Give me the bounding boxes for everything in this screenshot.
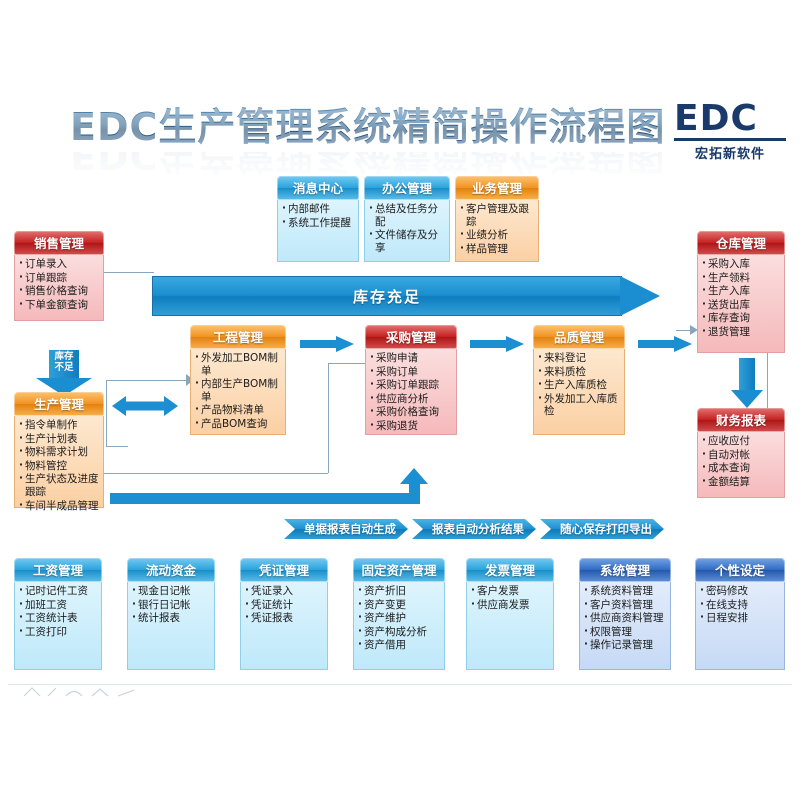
list-item[interactable]: 生产入库 [702, 285, 782, 298]
logo-subtitle: 宏拓新软件 [674, 143, 786, 162]
list-item[interactable]: 文件储存及分享 [369, 229, 447, 254]
list-item[interactable]: 内部邮件 [282, 203, 356, 216]
list-item[interactable]: 样品管理 [460, 243, 536, 256]
list-item[interactable]: 密码修改 [700, 585, 782, 598]
list-item[interactable]: 供应商发票 [471, 599, 551, 612]
module-title: 品质管理 [533, 325, 625, 349]
module-body: 凭证录入 凭证统计 凭证报表 [240, 582, 328, 670]
module-body: 外发加工BOM制单 内部生产BOM制单 产品物料清单 产品BOM查询 [190, 349, 286, 435]
arrow-tip [731, 390, 763, 408]
connector-material-to-purchase-v [328, 363, 329, 473]
list-item[interactable]: 车间半成品管理 [19, 500, 101, 513]
list-item[interactable]: 外发加工入库质检 [538, 393, 622, 418]
list-item[interactable]: 资产折旧 [358, 585, 442, 598]
list-item[interactable]: 工资打印 [19, 626, 99, 639]
stock-insufficient-arrow: 库存 不足 [36, 350, 92, 396]
module-item-list: 记时记件工资 加班工资 工资统计表 工资打印 [19, 585, 99, 638]
list-item[interactable]: 权限管理 [584, 626, 668, 639]
list-item[interactable]: 销售价格查询 [19, 285, 101, 298]
list-item[interactable]: 来料登记 [538, 352, 622, 365]
list-item[interactable]: 凭证报表 [245, 612, 325, 625]
list-item[interactable]: 采购入库 [702, 258, 782, 271]
module-title: 采购管理 [365, 325, 457, 349]
module-card-purchase-management[interactable]: 采购管理 采购申请 采购订单 采购订单跟踪 供应商分析 采购价格查询 采购退货 [365, 325, 457, 435]
list-item[interactable]: 退货管理 [702, 326, 782, 339]
list-item[interactable]: 订单跟踪 [19, 272, 101, 285]
list-item[interactable]: 指令单制作 [19, 419, 101, 432]
module-card-warehouse-management[interactable]: 仓库管理 采购入库 生产领料 生产入库 送货出库 库存查询 退货管理 [697, 231, 785, 353]
module-item-list: 采购申请 采购订单 采购订单跟踪 供应商分析 采购价格查询 采购退货 [370, 352, 454, 433]
engineering-to-purchase-arrow [300, 336, 354, 352]
list-item[interactable]: 成本查询 [702, 462, 782, 475]
list-item[interactable]: 物料需求计划 [19, 446, 101, 459]
page-title: EDC生产管理系统精简操作流程图 [70, 96, 690, 158]
module-title: 生产管理 [14, 392, 104, 416]
module-item-list: 资产折旧 资产变更 资产维护 资产构成分析 资产借用 [358, 585, 442, 652]
purchase-to-quality-arrow [470, 336, 524, 352]
module-body: 来料登记 来料质检 生产入库质检 外发加工入库质检 [533, 349, 625, 435]
list-item[interactable]: 在线支持 [700, 599, 782, 612]
arrow-stem-horizontal [110, 493, 416, 504]
module-title: 消息中心 [277, 176, 359, 200]
module-item-list: 系统资料管理 客户资料管理 供应商资料管理 权限管理 操作记录管理 [584, 585, 668, 652]
list-item[interactable]: 客户管理及跟踪 [460, 203, 536, 228]
module-card-working-capital[interactable]: 流动资金 现金日记帐 银行日记帐 统计报表 [127, 558, 215, 670]
list-item[interactable]: 银行日记帐 [132, 599, 212, 612]
list-item[interactable]: 下单金额查询 [19, 299, 101, 312]
list-item[interactable]: 采购价格查询 [370, 406, 454, 419]
module-body: 客户发票 供应商发票 [466, 582, 554, 670]
warehouse-to-finance-arrow [726, 358, 768, 408]
module-body: 总结及任务分配 文件储存及分享 [364, 200, 450, 262]
list-item[interactable]: 应收应付 [702, 435, 782, 448]
list-item[interactable]: 订单录入 [19, 258, 101, 271]
list-item[interactable]: 金额结算 [702, 476, 782, 489]
arrow-tip [400, 468, 428, 484]
page-title-text: EDC生产管理系统精简操作流程图 [70, 96, 690, 158]
list-item[interactable]: 现金日记帐 [132, 585, 212, 598]
arrow-head [620, 276, 660, 316]
banner-auto-generate-report[interactable]: 单据报表自动生成 [284, 519, 408, 539]
banner-auto-analyze-report[interactable]: 报表自动分析结果 [412, 519, 536, 539]
module-item-list: 应收应付 自动对帐 成本查询 金额结算 [702, 435, 782, 488]
list-item[interactable]: 生产领料 [702, 272, 782, 285]
module-body: 订单录入 订单跟踪 销售价格查询 下单金额查询 [14, 255, 104, 321]
module-card-business-management[interactable]: 业务管理 客户管理及跟踪 业绩分析 样品管理 [455, 176, 539, 262]
module-title: 系统管理 [579, 558, 671, 582]
connector-production-to-engineering [106, 380, 188, 381]
module-title: 业务管理 [455, 176, 539, 200]
arrow-tip [506, 336, 524, 352]
list-item[interactable]: 凭证录入 [245, 585, 325, 598]
module-item-list: 指令单制作 生产计划表 物料需求计划 物料管控 生产状态及进度跟踪 车间半成品管… [19, 419, 101, 512]
list-item[interactable]: 加班工资 [19, 599, 99, 612]
arrow-stem [638, 340, 676, 348]
quality-to-warehouse-arrow [638, 336, 692, 352]
connector-sales-to-stock [96, 272, 154, 273]
module-body: 系统资料管理 客户资料管理 供应商资料管理 权限管理 操作记录管理 [579, 582, 671, 670]
module-item-list: 采购入库 生产领料 生产入库 送货出库 库存查询 退货管理 [702, 258, 782, 339]
module-card-invoice-management[interactable]: 发票管理 客户发票 供应商发票 [466, 558, 554, 670]
module-body: 现金日记帐 银行日记帐 统计报表 [127, 582, 215, 670]
module-item-list: 外发加工BOM制单 内部生产BOM制单 产品物料清单 产品BOM查询 [195, 352, 283, 431]
bottom-divider [8, 684, 792, 685]
list-item[interactable]: 物料管控 [19, 460, 101, 473]
module-title: 流动资金 [127, 558, 215, 582]
list-item[interactable]: 记时记件工资 [19, 585, 99, 598]
list-item[interactable]: 采购申请 [370, 352, 454, 365]
list-item[interactable]: 系统工作提醒 [282, 217, 356, 230]
list-item[interactable]: 资产借用 [358, 639, 442, 652]
module-body: 客户管理及跟踪 业绩分析 样品管理 [455, 200, 539, 262]
list-item[interactable]: 产品物料清单 [195, 404, 283, 417]
list-item[interactable]: 送货出库 [702, 299, 782, 312]
company-logo: EDC 宏拓新软件 [674, 100, 786, 162]
module-title: 仓库管理 [697, 231, 785, 255]
connector-production-return [106, 446, 128, 447]
module-body: 资产折旧 资产变更 资产维护 资产构成分析 资产借用 [353, 582, 445, 670]
module-body: 指令单制作 生产计划表 物料需求计划 物料管控 生产状态及进度跟踪 车间半成品管… [14, 416, 104, 508]
list-item[interactable]: 供应商分析 [370, 393, 454, 406]
list-item[interactable]: 生产状态及进度跟踪 [19, 473, 101, 498]
module-item-list: 内部邮件 系统工作提醒 [282, 203, 356, 229]
module-card-personal-settings[interactable]: 个性设定 密码修改 在线支持 日程安排 [695, 558, 785, 670]
module-title: 凭证管理 [240, 558, 328, 582]
module-body: 应收应付 自动对帐 成本查询 金额结算 [697, 432, 785, 498]
module-card-financial-report[interactable]: 财务报表 应收应付 自动对帐 成本查询 金额结算 [697, 408, 785, 498]
list-item[interactable]: 内部生产BOM制单 [195, 378, 283, 403]
module-item-list: 凭证录入 凭证统计 凭证报表 [245, 585, 325, 625]
module-title: 办公管理 [364, 176, 450, 200]
list-item[interactable]: 自动对帐 [702, 449, 782, 462]
list-item[interactable]: 总结及任务分配 [369, 203, 447, 228]
list-item[interactable]: 凭证统计 [245, 599, 325, 612]
list-item[interactable]: 客户资料管理 [584, 599, 668, 612]
list-item[interactable]: 采购订单 [370, 366, 454, 379]
module-card-system-management[interactable]: 系统管理 系统资料管理 客户资料管理 供应商资料管理 权限管理 操作记录管理 [579, 558, 671, 670]
stock-insufficient-label: 库存 不足 [36, 352, 92, 373]
connector-production-vertical [106, 380, 107, 446]
connector-material-to-purchase-h2 [328, 363, 370, 364]
module-body: 密码修改 在线支持 日程安排 [695, 582, 785, 670]
module-title: 个性设定 [695, 558, 785, 582]
module-item-list: 订单录入 订单跟踪 销售价格查询 下单金额查询 [19, 258, 101, 311]
module-title: 工程管理 [190, 325, 286, 349]
list-item[interactable]: 生产入库质检 [538, 379, 622, 392]
list-item[interactable]: 采购订单跟踪 [370, 379, 454, 392]
arrow-stem [739, 358, 755, 392]
module-item-list: 现金日记帐 银行日记帐 统计报表 [132, 585, 212, 625]
list-item[interactable]: 工资统计表 [19, 612, 99, 625]
list-item[interactable]: 资产变更 [358, 599, 442, 612]
module-card-fixed-asset-management[interactable]: 固定资产管理 资产折旧 资产变更 资产维护 资产构成分析 资产借用 [353, 558, 445, 670]
list-item[interactable]: 来料质检 [538, 366, 622, 379]
list-item[interactable]: 统计报表 [132, 612, 212, 625]
arrow-stem [470, 340, 508, 348]
list-item[interactable]: 采购退货 [370, 420, 454, 433]
module-body: 采购申请 采购订单 采购订单跟踪 供应商分析 采购价格查询 采购退货 [365, 349, 457, 435]
module-title: 财务报表 [697, 408, 785, 432]
module-card-message-center[interactable]: 消息中心 内部邮件 系统工作提醒 [277, 176, 359, 262]
module-title: 发票管理 [466, 558, 554, 582]
module-card-quality-management[interactable]: 品质管理 来料登记 来料质检 生产入库质检 外发加工入库质检 [533, 325, 625, 435]
module-item-list: 密码修改 在线支持 日程安排 [700, 585, 782, 625]
arrow-tip [674, 336, 692, 352]
module-item-list: 客户发票 供应商发票 [471, 585, 551, 611]
list-item[interactable]: 外发加工BOM制单 [195, 352, 283, 377]
module-body: 记时记件工资 加班工资 工资统计表 工资打印 [14, 582, 102, 670]
list-item[interactable]: 产品BOM查询 [195, 418, 283, 431]
arrow-head-left [112, 396, 126, 416]
module-item-list: 客户管理及跟踪 业绩分析 样品管理 [460, 203, 536, 255]
module-title: 固定资产管理 [353, 558, 445, 582]
module-body: 采购入库 生产领料 生产入库 送货出库 库存查询 退货管理 [697, 255, 785, 353]
module-body: 内部邮件 系统工作提醒 [277, 200, 359, 262]
stock-sufficient-arrow: 库存充足 [152, 276, 660, 316]
list-item[interactable]: 资产构成分析 [358, 626, 442, 639]
module-card-salary-management[interactable]: 工资管理 记时记件工资 加班工资 工资统计表 工资打印 [14, 558, 102, 670]
list-item[interactable]: 客户发票 [471, 585, 551, 598]
flowchart-canvas: EDC生产管理系统精简操作流程图 EDC生产管理系统精简操作流程图 EDC 宏拓… [0, 0, 800, 800]
module-card-office-management[interactable]: 办公管理 总结及任务分配 文件储存及分享 [364, 176, 450, 262]
list-item[interactable]: 操作记录管理 [584, 639, 668, 652]
list-item[interactable]: 资产维护 [358, 612, 442, 625]
list-item[interactable]: 业绩分析 [460, 229, 536, 242]
module-card-sales-management[interactable]: 销售管理 订单录入 订单跟踪 销售价格查询 下单金额查询 [14, 231, 104, 321]
arrow-tip [336, 336, 354, 352]
module-title: 工资管理 [14, 558, 102, 582]
decorative-scribble-icon [22, 686, 142, 698]
arrow-stem [124, 402, 166, 411]
arrow-stem [300, 340, 338, 348]
banner-save-print-export[interactable]: 随心保存打印导出 [540, 519, 664, 539]
connector-material-to-purchase-h1 [100, 473, 328, 474]
module-item-list: 总结及任务分配 文件储存及分享 [369, 203, 447, 254]
module-card-voucher-management[interactable]: 凭证管理 凭证录入 凭证统计 凭证报表 [240, 558, 328, 670]
module-item-list: 来料登记 来料质检 生产入库质检 外发加工入库质检 [538, 352, 622, 418]
module-card-production-management[interactable]: 生产管理 指令单制作 生产计划表 物料需求计划 物料管控 生产状态及进度跟踪 车… [14, 392, 104, 508]
arrow-head-right [164, 396, 178, 416]
module-title: 销售管理 [14, 231, 104, 255]
stock-sufficient-label: 库存充足 [152, 276, 622, 316]
list-item[interactable]: 日程安排 [700, 612, 782, 625]
logo-text: EDC [674, 100, 786, 138]
list-item[interactable]: 供应商资料管理 [584, 612, 668, 625]
list-item[interactable]: 库存查询 [702, 312, 782, 325]
module-card-engineering-management[interactable]: 工程管理 外发加工BOM制单 内部生产BOM制单 产品物料清单 产品BOM查询 [190, 325, 286, 435]
production-engineering-link-arrow [112, 396, 178, 416]
list-item[interactable]: 生产计划表 [19, 433, 101, 446]
list-item[interactable]: 系统资料管理 [584, 585, 668, 598]
